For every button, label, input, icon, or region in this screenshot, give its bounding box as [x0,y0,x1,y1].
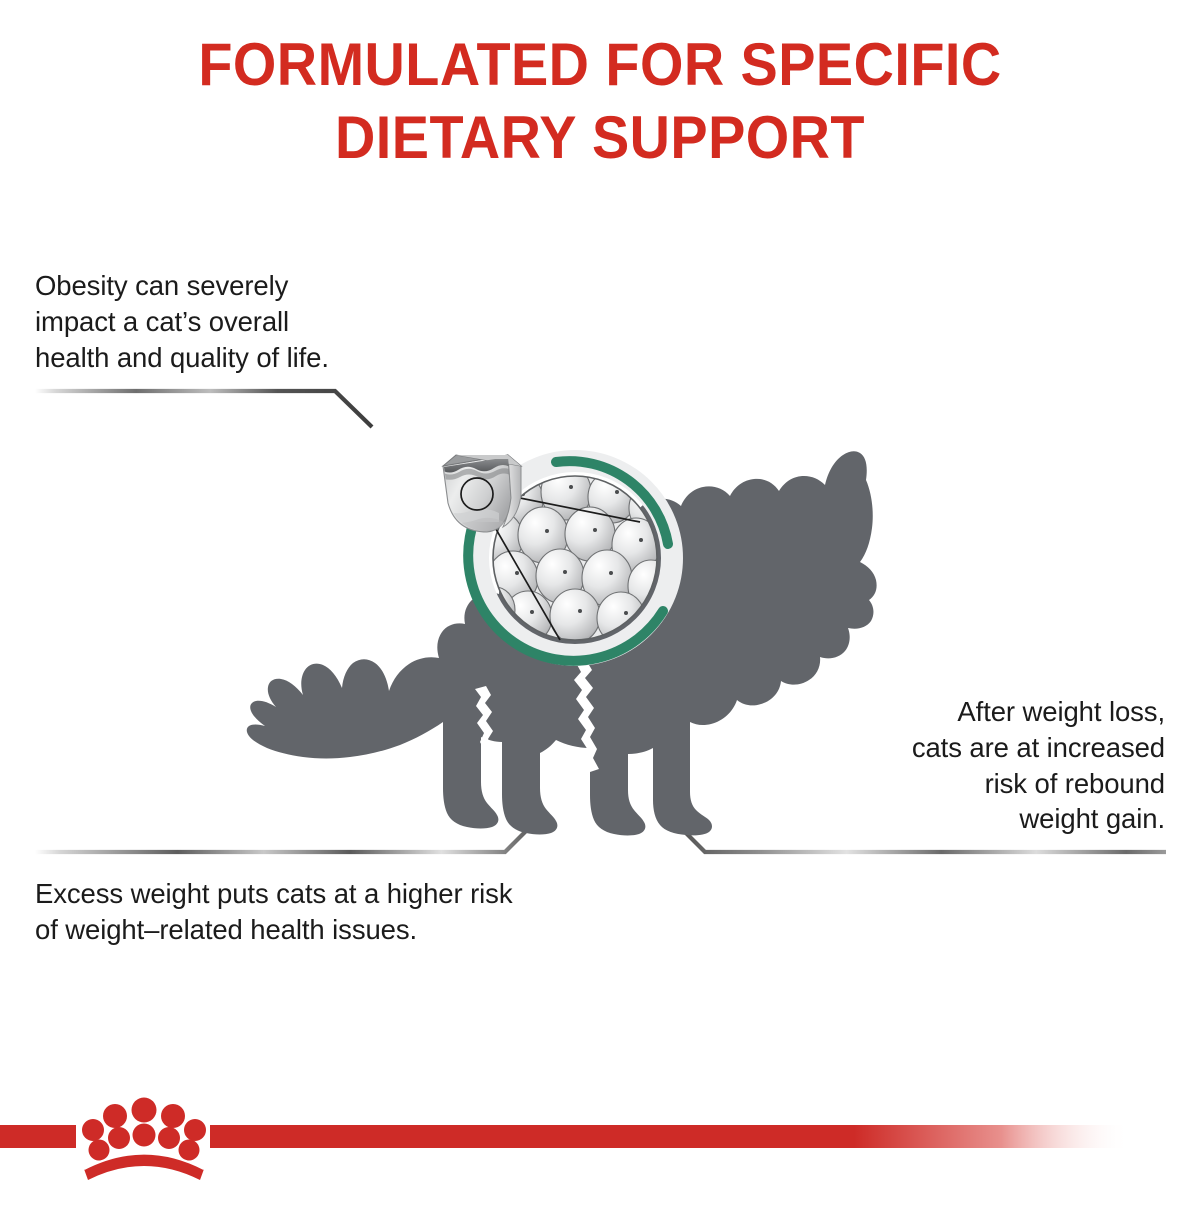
tissue-cross-section-wedge [441,455,521,532]
connector-line-top-left [35,391,372,427]
royal-canin-crown-logo [82,1098,206,1181]
footer-graphics [0,1080,1200,1200]
connector-line-bottom-right [667,814,1166,852]
footer-bar-left [0,1125,76,1148]
footer-bar-right [210,1125,1130,1148]
illustration-layer [0,0,1200,1200]
poster-canvas: FORMULATED FOR SPECIFIC DIETARY SUPPORT … [0,0,1200,1200]
footer-bar [0,1080,1200,1200]
